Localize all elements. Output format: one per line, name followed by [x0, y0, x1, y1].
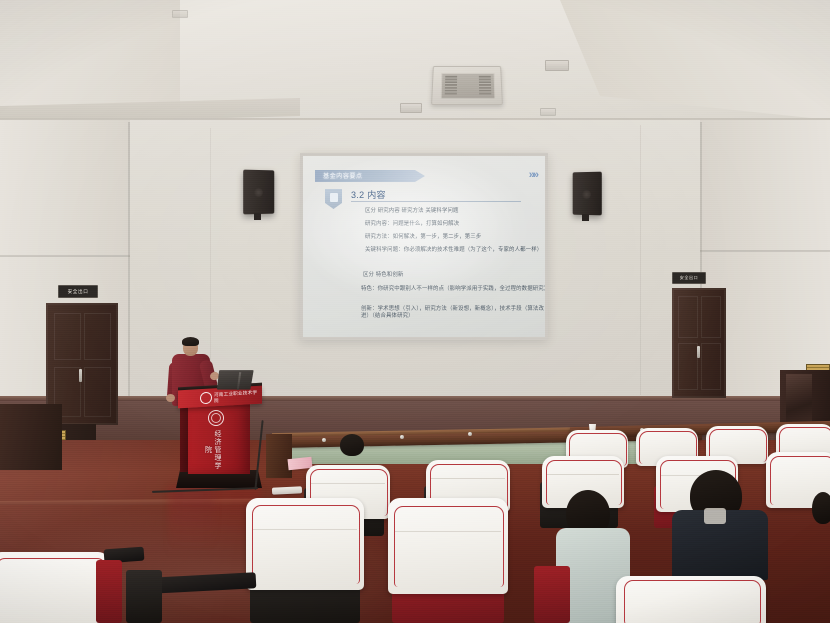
chair-seam: [311, 483, 385, 484]
left-wall-cabinet: [0, 404, 62, 470]
chair-piping: [624, 580, 761, 623]
lecture-hall-photo: 安全出口 安全出口 基金内容要点 »» 3.2 内容: [0, 0, 830, 623]
slide-body-line-3: 研究方法：如何解决，第一步，第二步，第三步: [365, 234, 481, 241]
door-right-panel-upper: [678, 296, 698, 338]
speaker-left-icon: [243, 170, 274, 215]
chevron-right-icon: »»: [529, 169, 537, 181]
ceiling-fixture-far: [172, 10, 188, 18]
attendee-front-row-head: [340, 434, 364, 456]
desk-row-1-end-panel: [266, 434, 292, 478]
exit-sign-right: 安全出口: [672, 272, 706, 284]
ceiling-vent-small: [540, 108, 556, 116]
chair-r4-c2[interactable]: [388, 498, 508, 594]
slide-header-banner-text: 基金内容要点: [323, 171, 418, 182]
chair-r4-c3[interactable]: [616, 576, 766, 623]
slide-section2-line-1: 特色：你研究中跟别人不一样的点（影响学派用于实践，全过程的数据研究）: [361, 286, 545, 293]
slide-body-line-1: 区分 研究内容 研究方法 关键科学问题: [365, 208, 459, 215]
wall-seam-mid-left: [210, 128, 211, 396]
slide-title-rule: [351, 201, 521, 202]
door-left-panel-upper: [54, 313, 81, 360]
wall-seam-horizontal-right: [700, 250, 830, 252]
desk-knob-2: [468, 432, 472, 436]
slide-badge-doc-glyph: [330, 193, 338, 202]
slide-body-line-2: 研究内容：问题是什么，打算如何解决: [365, 221, 459, 228]
chair-leg-left: [126, 570, 162, 623]
presentation-slide: 基金内容要点 »» 3.2 内容 区分 研究内容 研究方法 关键科学问题 研究内…: [303, 156, 545, 337]
ceiling-light-fixture: [400, 103, 422, 113]
speaker-right-cone: [582, 190, 591, 199]
desk-knob-1: [400, 435, 404, 439]
presenter-left-hand: [166, 394, 175, 402]
slide-body-line-4: 关键科学问题：你必须解决的技术性难题（为了这个，专家的人都一样）: [365, 247, 542, 254]
speaker-left-mount: [254, 213, 261, 220]
chair-r4-c0[interactable]: [0, 552, 110, 623]
ceiling-sprinkler-icon: [545, 60, 569, 71]
ac-grille-right: [479, 76, 491, 95]
chair-piping: [252, 505, 360, 583]
podium-banner-text: 河南工业职业技术学院: [214, 390, 258, 405]
door-left-panel-lower2: [84, 367, 111, 417]
chair-side-red-left: [96, 560, 122, 623]
podium-vertical-text: 经济管理学院: [209, 428, 222, 472]
door-right-panel-lower2: [701, 343, 721, 390]
slide-section2-heading: 区分 特色和创新: [363, 272, 403, 279]
presenter-hair: [182, 337, 199, 346]
ac-grille-left: [445, 76, 457, 95]
attendee-dark-suit-collar: [704, 508, 726, 524]
chair-seam: [253, 529, 357, 530]
ceiling-ac-unit-icon: [431, 66, 503, 105]
chair-side-red-mid: [534, 566, 570, 623]
podium-laptop: [217, 370, 254, 390]
chair-seam: [547, 474, 619, 475]
speaker-left-cone: [254, 188, 263, 197]
chair-piping: [0, 558, 106, 623]
chair-piping: [394, 506, 504, 588]
chair-r4-c1[interactable]: [246, 498, 364, 590]
wall-seam-mid-right: [640, 125, 641, 395]
exit-sign-left: 安全出口: [58, 285, 98, 298]
slide-section2-line-2: 创新：学术思想（引入），研究方法（新设想，新概念），技术手段（算法改进）（结合具…: [361, 306, 545, 320]
chair-seam: [431, 478, 505, 479]
chair-seam: [395, 531, 501, 532]
projection-screen: 基金内容要点 »» 3.2 内容 区分 研究内容 研究方法 关键科学问题 研究内…: [303, 156, 545, 337]
door-right-panel-lower: [678, 343, 698, 390]
wall-seam-horizontal-left: [0, 255, 130, 257]
presenter-reflection: [172, 487, 214, 547]
door-left-panel-upper2: [84, 313, 111, 360]
exit-sign-left-text: 安全出口: [68, 289, 89, 295]
desk-knob-3: [322, 438, 326, 442]
speaker-right-icon: [573, 172, 602, 216]
university-crest-inner: [211, 413, 221, 423]
exit-sign-right-text: 安全出口: [680, 275, 698, 281]
wall-seam-left: [128, 122, 130, 422]
door-right[interactable]: [672, 288, 726, 398]
door-left-handle[interactable]: [79, 369, 82, 382]
door-right-handle[interactable]: [697, 346, 700, 358]
door-right-panel-upper2: [701, 296, 721, 338]
slide-title: 3.2 内容: [351, 188, 386, 201]
attendee-far-right-head: [812, 492, 830, 524]
speaker-right-mount: [582, 214, 589, 221]
